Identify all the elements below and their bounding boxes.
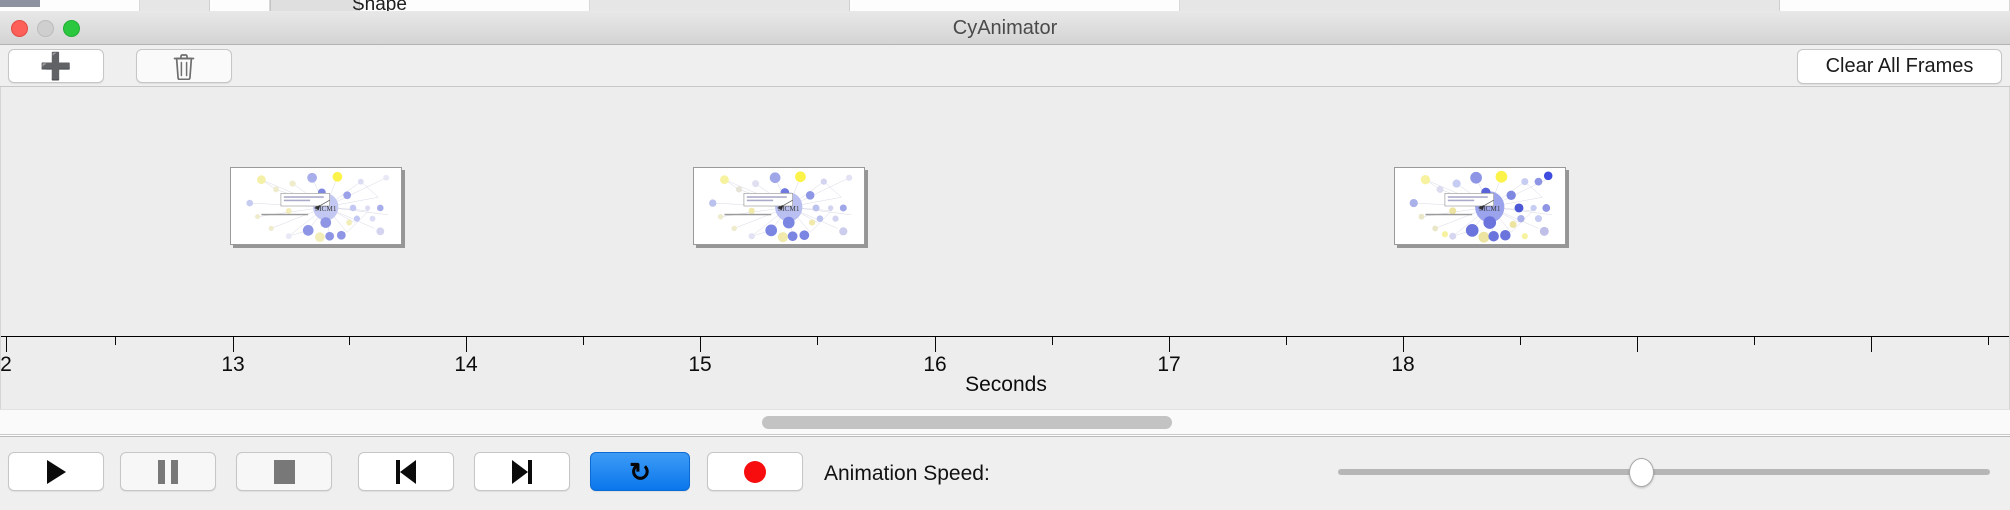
trash-icon: [172, 53, 196, 80]
axis-tick-major: [233, 337, 234, 352]
loop-icon: ↻: [629, 459, 651, 485]
add-frame-button[interactable]: ➕: [8, 49, 104, 83]
axis-tick-major: [1403, 337, 1404, 352]
svg-text:MCM1: MCM1: [1479, 204, 1501, 213]
loop-button[interactable]: ↻: [590, 452, 690, 491]
delete-frame-button[interactable]: [136, 49, 232, 83]
axis-tick-minor: [115, 337, 116, 345]
axis-tick-minor: [349, 337, 350, 345]
skip-next-button[interactable]: [474, 452, 570, 491]
timeline-panel[interactable]: MCM1: [0, 87, 2010, 409]
record-button[interactable]: [707, 452, 803, 491]
animation-speed-label: Animation Speed:: [824, 462, 990, 486]
timeline-ruler: 2 13 14 15 16 17 18: [1, 337, 2010, 355]
axis-tick-major: [935, 337, 936, 352]
animation-speed-track: [1338, 469, 1990, 475]
svg-text:MCM1: MCM1: [778, 204, 800, 213]
playback-control-bar: ↻ Animation Speed:: [0, 436, 2010, 510]
timeline-frame[interactable]: MCM1: [1394, 167, 1566, 245]
play-icon: [47, 460, 66, 484]
stop-button[interactable]: [236, 452, 332, 491]
skip-next-icon: [512, 460, 532, 484]
pause-icon: [158, 460, 178, 484]
animation-speed-thumb[interactable]: [1629, 458, 1654, 487]
axis-title: Seconds: [1, 373, 2010, 397]
horizontal-scrollbar-track[interactable]: [0, 409, 2010, 435]
timeline-frame[interactable]: MCM1: [693, 167, 865, 245]
axis-tick-major: [6, 337, 7, 352]
animation-speed-slider[interactable]: [1334, 452, 1998, 491]
axis-tick-major: [1637, 337, 1638, 352]
svg-text:MCM1: MCM1: [315, 204, 337, 213]
axis-tick-minor: [817, 337, 818, 345]
axis-tick-major: [1169, 337, 1170, 352]
network-thumbnail: MCM1: [231, 168, 401, 244]
record-icon: [744, 461, 766, 483]
horizontal-scrollbar-thumb[interactable]: [762, 416, 1172, 429]
bg-chrome-block: [0, 0, 40, 7]
frames-toolbar: ➕ Clear All Frames: [0, 45, 2010, 87]
stop-icon: [274, 460, 295, 484]
skip-previous-icon: [396, 460, 416, 484]
axis-tick-major: [700, 337, 701, 352]
axis-tick-minor: [1988, 337, 1989, 345]
axis-tick-major: [466, 337, 467, 352]
pause-button[interactable]: [120, 452, 216, 491]
axis-tick-minor: [583, 337, 584, 345]
axis-tick-minor: [1754, 337, 1755, 345]
network-thumbnail: MCM1: [694, 168, 864, 244]
play-button[interactable]: [8, 452, 104, 491]
timeline-frame[interactable]: MCM1: [230, 167, 402, 245]
page-title: CyAnimator: [0, 11, 2010, 45]
axis-tick-minor: [1520, 337, 1521, 345]
skip-previous-button[interactable]: [358, 452, 454, 491]
clear-all-frames-button[interactable]: Clear All Frames: [1797, 49, 2002, 84]
plus-icon: ➕: [40, 53, 72, 79]
clear-all-frames-label: Clear All Frames: [1826, 55, 1974, 78]
axis-tick-minor: [1052, 337, 1053, 345]
axis-tick-major: [1871, 337, 1872, 352]
window-titlebar: CyAnimator: [0, 11, 2010, 45]
axis-tick-minor: [1286, 337, 1287, 345]
network-thumbnail: MCM1: [1395, 168, 1565, 244]
